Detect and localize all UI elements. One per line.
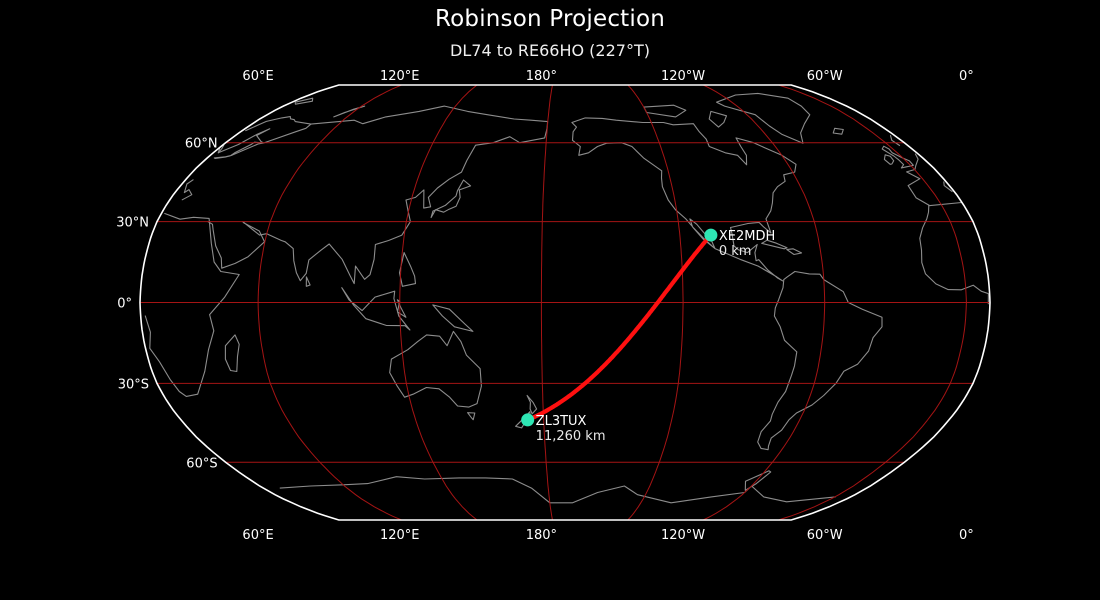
marker-label-distance: 11,260 km [536,429,606,444]
map-figure: Robinson Projection DL74 to RE66HO (227°… [0,0,1100,600]
marker-label-distance: 0 km [719,244,752,259]
svg-text:0°: 0° [959,69,974,84]
svg-text:120°E: 120°E [380,69,420,84]
graticule-layer [140,85,990,520]
svg-text:60°W: 60°W [807,528,843,543]
svg-text:120°E: 120°E [380,528,420,543]
svg-text:180°: 180° [526,69,557,84]
svg-text:60°S: 60°S [186,456,217,471]
svg-text:0°: 0° [959,528,974,543]
svg-text:60°N: 60°N [185,137,218,152]
svg-text:120°W: 120°W [661,69,705,84]
svg-text:60°E: 60°E [242,528,273,543]
svg-text:180°: 180° [526,528,557,543]
great-circle-route [528,235,711,420]
endpoint-markers: XE2MDH0 kmZL3TUX11,260 km [521,229,775,444]
svg-text:30°S: 30°S [118,377,149,392]
svg-text:60°W: 60°W [807,69,843,84]
marker-label-callsign: ZL3TUX [536,414,587,429]
marker-label-callsign: XE2MDH [719,229,775,244]
svg-text:120°W: 120°W [661,528,705,543]
svg-text:0°: 0° [117,297,132,312]
marker-xe2mdh[interactable] [704,229,717,242]
marker-zl3tux[interactable] [521,413,534,426]
svg-text:30°N: 30°N [116,216,149,231]
robinson-map: XE2MDH0 kmZL3TUX11,260 km 60°E60°E120°E1… [0,0,1100,600]
svg-text:60°E: 60°E [242,69,273,84]
axis-labels: 60°E60°E120°E120°E180°180°120°W120°W60°W… [116,69,974,543]
